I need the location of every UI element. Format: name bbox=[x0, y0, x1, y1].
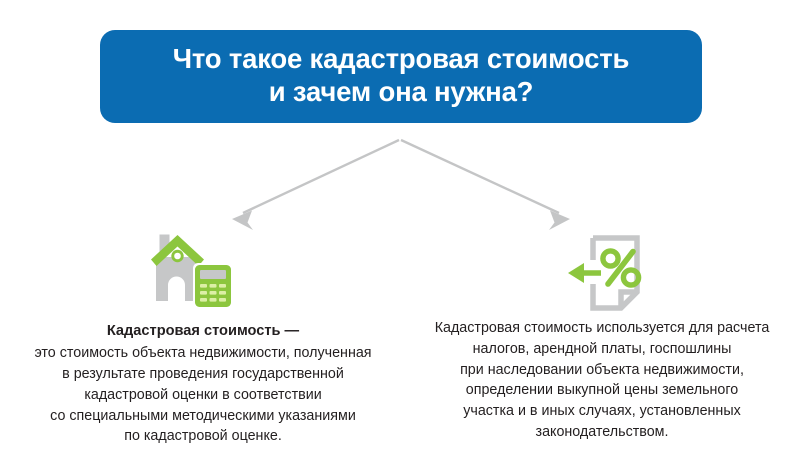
usage-text-block: Кадастровая стоимость используется для р… bbox=[410, 318, 794, 443]
left-arrow-shape bbox=[568, 263, 601, 283]
house-door-shape bbox=[168, 277, 185, 302]
definition-line-5: по кадастровой оценке. bbox=[8, 426, 398, 447]
definition-line-2: в результате проведения государственной bbox=[8, 364, 398, 385]
usage-line-2: налогов, арендной платы, госпошлины bbox=[410, 339, 794, 360]
banner-title-line-1: Что такое кадастровая стоимость bbox=[173, 43, 629, 75]
calculator-keys bbox=[200, 284, 226, 302]
arrow-to-left-section bbox=[232, 140, 399, 230]
usage-line-3: при наследовании объекта недвижимости, bbox=[410, 360, 794, 381]
definition-lead: Кадастровая стоимость — bbox=[8, 321, 398, 342]
definition-line-1: это стоимость объекта недвижимости, полу… bbox=[8, 343, 398, 364]
usage-line-1: Кадастровая стоимость используется для р… bbox=[410, 318, 794, 339]
infographic-page: Что такое кадастровая стоимость и зачем … bbox=[0, 0, 800, 459]
definition-line-3: кадастровой оценки в соответствии bbox=[8, 385, 398, 406]
usage-line-4: определении выкупной цены земельного bbox=[410, 380, 794, 401]
percent-sign-shape bbox=[603, 251, 639, 285]
definition-text-block: Кадастровая стоимость — это стоимость об… bbox=[8, 321, 398, 447]
document-percent-arrow-icon bbox=[563, 232, 657, 314]
house-calculator-icon bbox=[145, 227, 249, 311]
banner-title-line-2: и зачем она нужна? bbox=[269, 76, 534, 108]
definition-line-4: со специальными методическими указаниями bbox=[8, 406, 398, 427]
header-banner: Что такое кадастровая стоимость и зачем … bbox=[100, 30, 702, 123]
attic-window-glass bbox=[174, 253, 181, 260]
arrow-to-right-section bbox=[401, 140, 570, 230]
calculator-display bbox=[200, 270, 226, 279]
usage-line-5: участка и в иных случаях, установленных bbox=[410, 401, 794, 422]
usage-line-6: законодательством. bbox=[410, 422, 794, 443]
